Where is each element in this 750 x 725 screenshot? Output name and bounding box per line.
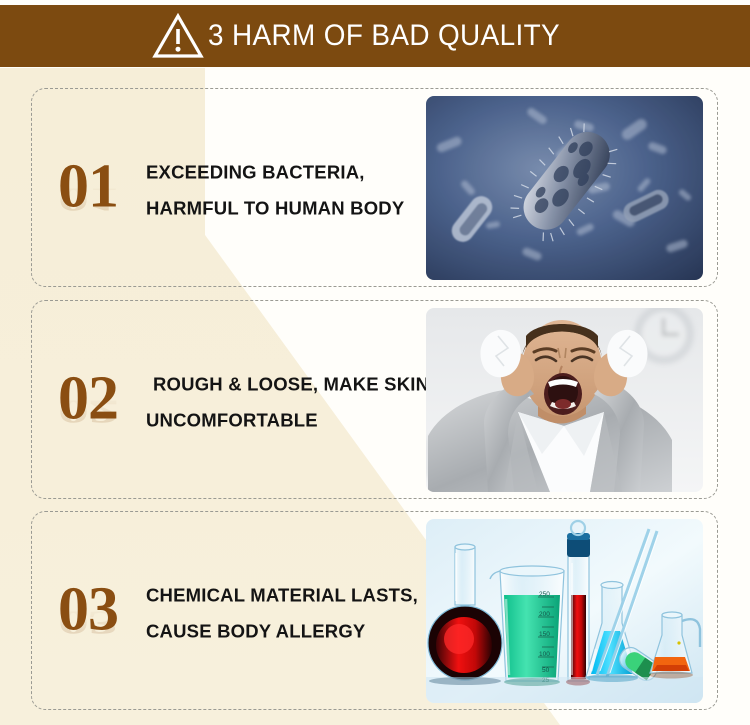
bacteria-photo: [426, 96, 703, 280]
beaker-label-200: 200: [539, 611, 550, 618]
panel-1-line-1: EXCEEDING BACTERIA,: [146, 163, 404, 182]
panel-1-line-2: HARMFUL TO HUMAN BODY: [146, 200, 404, 219]
panel-1-copy: 01 01 EXCEEDING BACTERIA, HARMFUL TO HUM…: [58, 157, 404, 218]
header-banner: 3 HARM OF BAD QUALITY: [0, 5, 750, 67]
harm-panel-2: 02 02 ROUGH & LOOSE, MAKE SKIN UNCOMFORT…: [31, 300, 718, 499]
beaker-label-150: 150: [539, 631, 550, 638]
panel-2-number: 02: [58, 369, 136, 428]
beaker-label-100: 100: [539, 651, 550, 658]
panel-1-number-wrap: 01 01: [58, 157, 136, 216]
warning-triangle-icon: [152, 13, 204, 59]
panel-2-copy: 02 02 ROUGH & LOOSE, MAKE SKIN UNCOMFORT…: [58, 369, 429, 430]
panel-3-number-wrap: 03 03: [58, 580, 136, 639]
page-title: 3 HARM OF BAD QUALITY: [208, 21, 560, 51]
panel-3-lines: CHEMICAL MATERIAL LASTS, CAUSE BODY ALLE…: [146, 580, 418, 641]
panel-3-line-1: CHEMICAL MATERIAL LASTS,: [146, 586, 418, 605]
panel-3-number: 03: [58, 580, 136, 639]
panel-2-line-1: ROUGH & LOOSE, MAKE SKIN: [146, 375, 429, 394]
harm-panel-1: 01 01 EXCEEDING BACTERIA, HARMFUL TO HUM…: [31, 88, 718, 287]
lab-glassware-photo: 250 200 150 100 50 25: [426, 519, 703, 703]
panel-3-line-2: CAUSE BODY ALLERGY: [146, 623, 418, 642]
panel-2-lines: ROUGH & LOOSE, MAKE SKIN UNCOMFORTABLE: [146, 369, 429, 430]
screaming-woman-photo: [426, 308, 703, 492]
beaker-label-250: 250: [539, 591, 550, 598]
harm-panel-3: 03 03 CHEMICAL MATERIAL LASTS, CAUSE BOD…: [31, 511, 718, 710]
panel-2-line-2: UNCOMFORTABLE: [146, 412, 429, 431]
infographic-page: 3 HARM OF BAD QUALITY 01 01 EXCEEDING BA…: [0, 0, 750, 725]
panel-2-number-wrap: 02 02: [58, 369, 136, 428]
beaker-label-50: 50: [542, 667, 550, 674]
panel-1-number: 01: [58, 157, 136, 216]
panel-1-lines: EXCEEDING BACTERIA, HARMFUL TO HUMAN BOD…: [146, 157, 404, 218]
panel-3-copy: 03 03 CHEMICAL MATERIAL LASTS, CAUSE BOD…: [58, 580, 418, 641]
